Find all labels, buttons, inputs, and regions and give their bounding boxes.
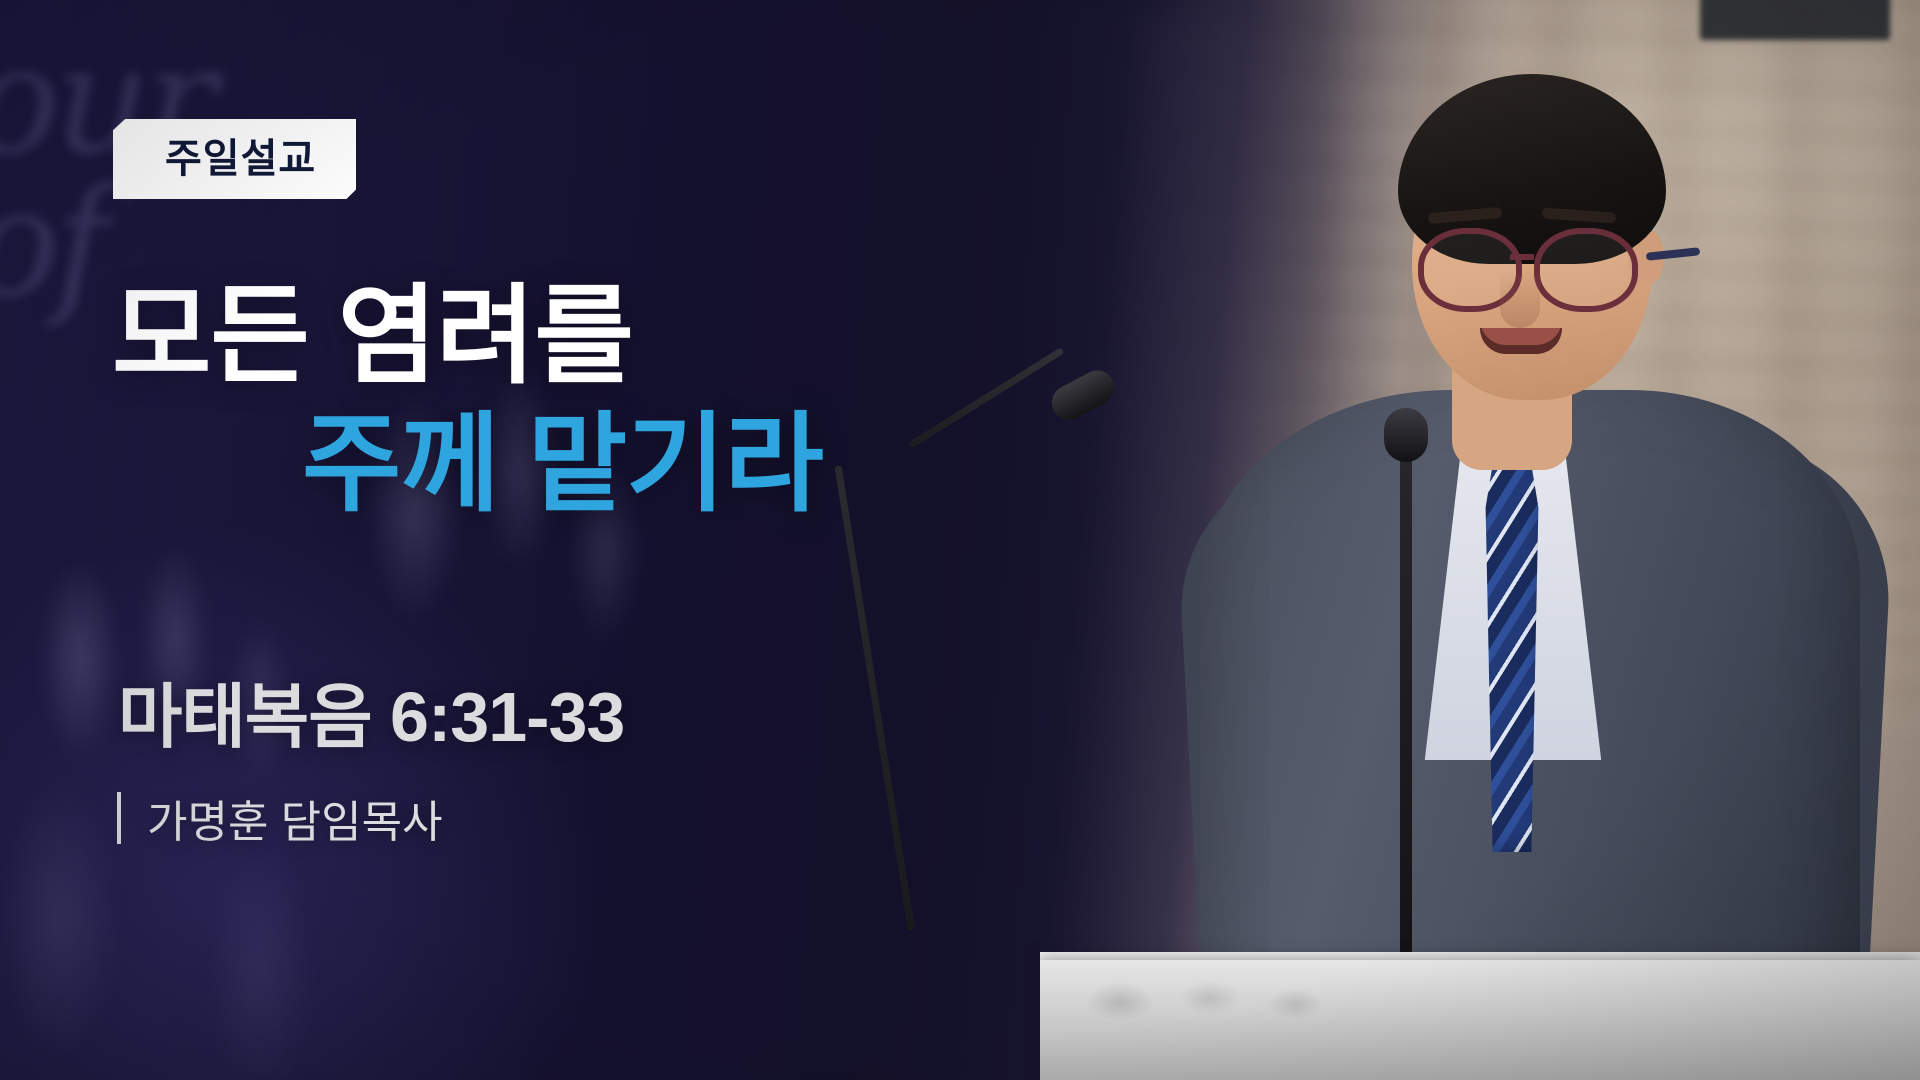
scripture-reference: 마태복음 6:31-33 <box>118 661 624 762</box>
speaker-figure <box>1180 60 1880 1080</box>
sermon-title-line-1: 모든 염려를 <box>112 282 992 390</box>
sermon-category-badge: 주일설교 <box>113 119 356 199</box>
nose <box>1500 270 1540 328</box>
preacher-name: 가명훈 담임목사 <box>147 786 443 850</box>
pulpit-carving <box>1060 968 1360 1038</box>
sermon-title-card: our of 주일설교 모든 염려를 <box>0 0 1920 1080</box>
sermon-title: 모든 염려를 주께 맡기라 <box>112 282 992 518</box>
glasses-temple <box>1646 247 1701 261</box>
preacher-row: 가명훈 담임목사 <box>117 786 443 850</box>
glasses-bridge <box>1510 254 1534 260</box>
sermon-title-line-2: 주께 맡기라 <box>302 410 992 518</box>
glasses-lens-right <box>1534 228 1638 312</box>
preacher-divider <box>117 792 121 844</box>
sermon-category-label: 주일설교 <box>165 139 316 179</box>
microphone-stand-second <box>1400 440 1412 960</box>
mouth <box>1480 328 1562 354</box>
microphone-capsule-second <box>1384 408 1428 462</box>
